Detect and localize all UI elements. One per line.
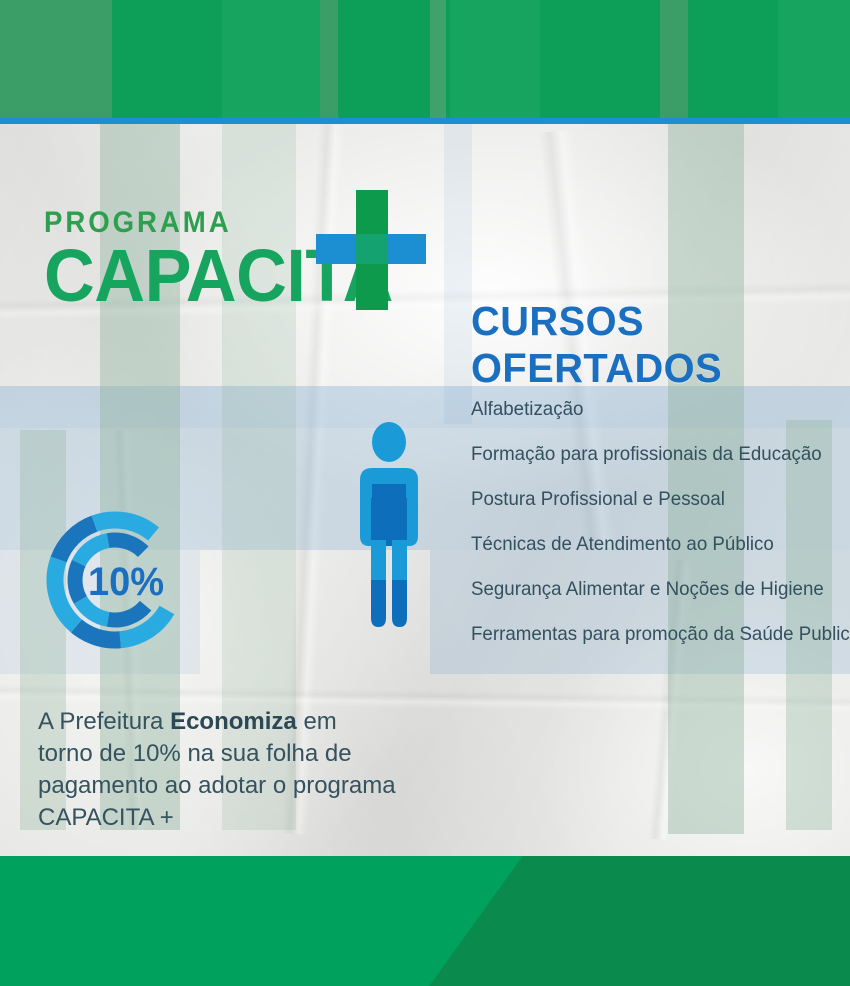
course-list-item[interactable]: Segurança Alimentar e Noções de Higiene: [471, 580, 826, 600]
course-list-item[interactable]: Formação para profissionais da Educação: [471, 445, 826, 465]
course-list-item[interactable]: Alfabetização: [471, 400, 826, 420]
banner-stripe: [688, 0, 778, 118]
top-green-banner: [0, 0, 850, 118]
courses-list: AlfabetizaçãoFormação para profissionais…: [471, 400, 841, 670]
savings-text-lead: A Prefeitura: [38, 708, 170, 735]
banner-stripe: [320, 0, 338, 118]
courses-heading: CURSOS OFERTADOS: [471, 298, 839, 392]
banner-blue-rule: [0, 118, 850, 124]
banner-stripe: [778, 0, 850, 118]
savings-paragraph: A Prefeitura Economiza em torno de 10% n…: [38, 706, 398, 834]
banner-stripe: [112, 0, 222, 118]
donut-inner-segment: [108, 540, 143, 552]
banner-stripe: [0, 0, 112, 118]
donut-inner-segment: [75, 563, 80, 600]
poster-canvas: PROGRAMA CAPACITA 10% CURSOS OFERTADOS A…: [0, 0, 850, 986]
person-figure-icon: [352, 422, 426, 632]
savings-text-emphasis: Economiza: [170, 708, 297, 735]
program-logo: PROGRAMA CAPACITA: [44, 208, 411, 310]
course-list-item[interactable]: Ferramentas para promoção da Saúde Publi…: [471, 625, 826, 645]
plus-sign-icon: [316, 190, 426, 310]
donut-outer-segment: [94, 520, 153, 534]
plus-center-square: [356, 234, 388, 264]
banner-stripe: [430, 0, 446, 118]
course-list-item[interactable]: Técnicas de Atendimento ao Público: [471, 535, 826, 555]
donut-percent-label: 10%: [88, 560, 164, 605]
course-list-item[interactable]: Postura Profissional e Pessoal: [471, 490, 826, 510]
banner-stripe: [540, 0, 660, 118]
banner-stripe: [222, 0, 320, 118]
donut-inner-segment: [108, 606, 146, 620]
donut-outer-segment: [76, 626, 120, 640]
banner-stripe: [660, 0, 688, 118]
